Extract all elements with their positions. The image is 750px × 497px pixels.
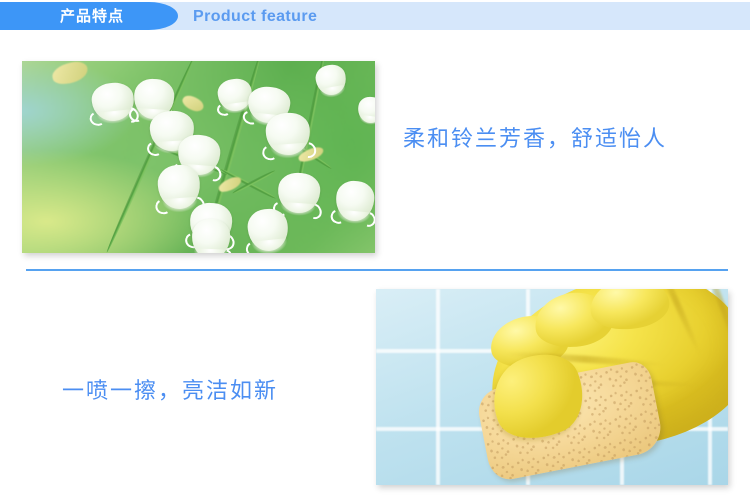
section-header-banner: 产品特点 Product feature bbox=[0, 2, 750, 30]
flower-bell bbox=[277, 172, 322, 215]
section-title-en: Product feature bbox=[193, 2, 317, 30]
caption-fragrance: 柔和铃兰芳香，舒适怡人 bbox=[403, 121, 667, 153]
glove-crease bbox=[696, 289, 728, 371]
gloved-hand-sponge-photo bbox=[376, 289, 728, 485]
grout-line bbox=[436, 289, 440, 485]
caption-cleaning: 一喷一擦，亮洁如新 bbox=[62, 373, 278, 405]
section-divider bbox=[26, 269, 728, 271]
section-title-cn: 产品特点 bbox=[60, 2, 124, 30]
lily-of-the-valley-photo bbox=[22, 61, 375, 253]
flower-bell bbox=[334, 179, 375, 222]
photo-inner bbox=[376, 289, 728, 485]
flower-bell bbox=[157, 164, 202, 211]
photo-inner bbox=[22, 61, 375, 253]
flower-bell bbox=[191, 218, 230, 253]
flower-bell bbox=[246, 207, 290, 253]
flower-bell bbox=[265, 112, 312, 157]
